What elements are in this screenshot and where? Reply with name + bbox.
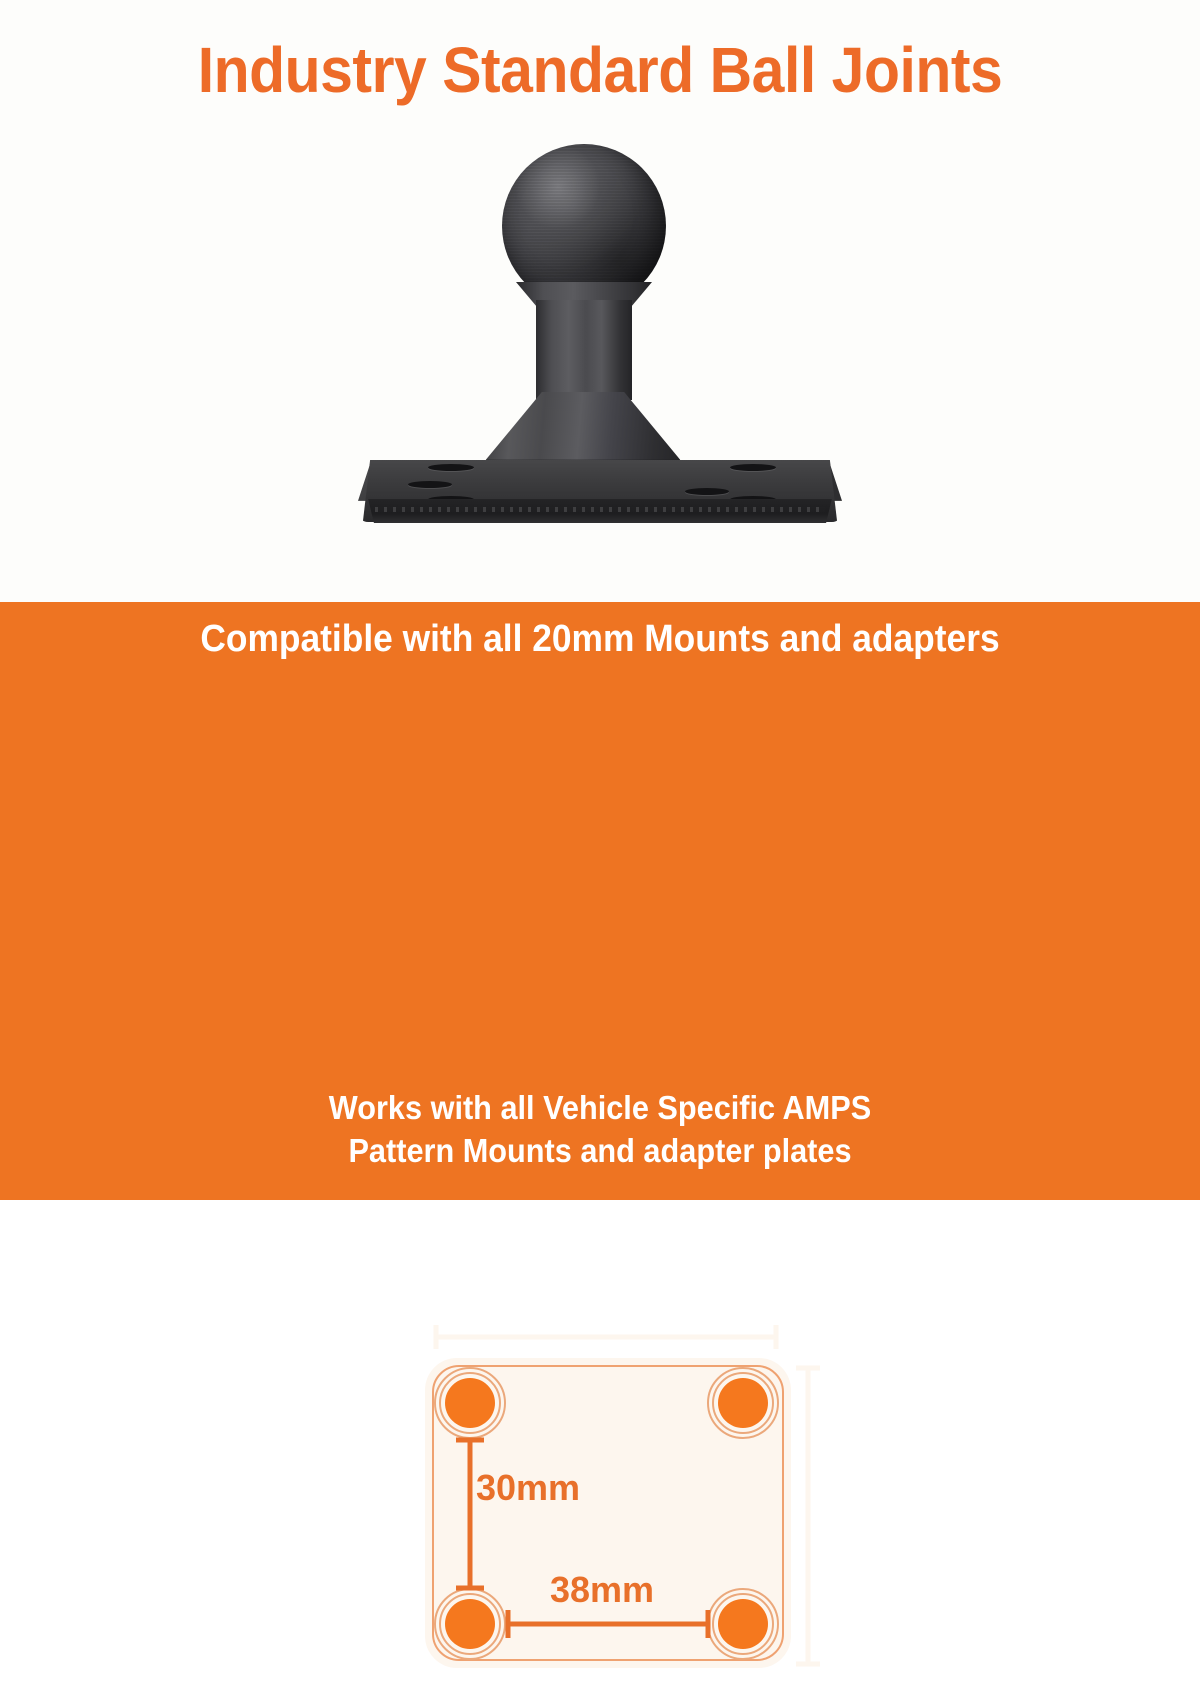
dimension-label-54mm: 54 mm <box>542 1298 650 1332</box>
dimension-line-49mm <box>796 1368 820 1664</box>
plate-hole-top-right <box>708 1368 778 1438</box>
compatibility-banner-text: Compatible with all 20mm Mounts and adap… <box>42 616 1158 662</box>
footer-line-1: Works with all Vehicle Specific AMPS <box>42 1086 1158 1129</box>
infographic-page: Industry Standard Ball Joints Compatible… <box>0 0 1200 1200</box>
plate-mounting-hole <box>685 488 729 495</box>
plate-hole-top-left <box>435 1368 505 1438</box>
hero-panel: Industry Standard Ball Joints <box>0 0 1200 602</box>
plate-hole-bottom-right <box>708 1589 778 1659</box>
product-image-ball-mount <box>330 130 870 550</box>
plate-mounting-hole <box>408 481 452 488</box>
dimension-label-49mm: 49 mm <box>825 1487 933 1521</box>
ball-neck-column <box>536 300 632 400</box>
footer-caption: Works with all Vehicle Specific AMPS Pat… <box>42 1086 1158 1172</box>
compatibility-panel: Compatible with all 20mm Mounts and adap… <box>0 602 1200 1200</box>
dimension-label-38mm: 38mm <box>550 1572 654 1608</box>
footer-line-2: Pattern Mounts and adapter plates <box>42 1129 1158 1172</box>
plate-mounting-hole <box>730 464 776 471</box>
dimension-diagram: 54 mm 49 mm 30mm 38mm <box>400 1292 1000 1682</box>
dimension-label-30mm: 30mm <box>476 1470 580 1506</box>
plate-hole-bottom-left <box>435 1589 505 1659</box>
base-plate-edge <box>361 499 839 523</box>
plate-mounting-hole <box>428 464 474 471</box>
page-title: Industry Standard Ball Joints <box>48 34 1152 106</box>
